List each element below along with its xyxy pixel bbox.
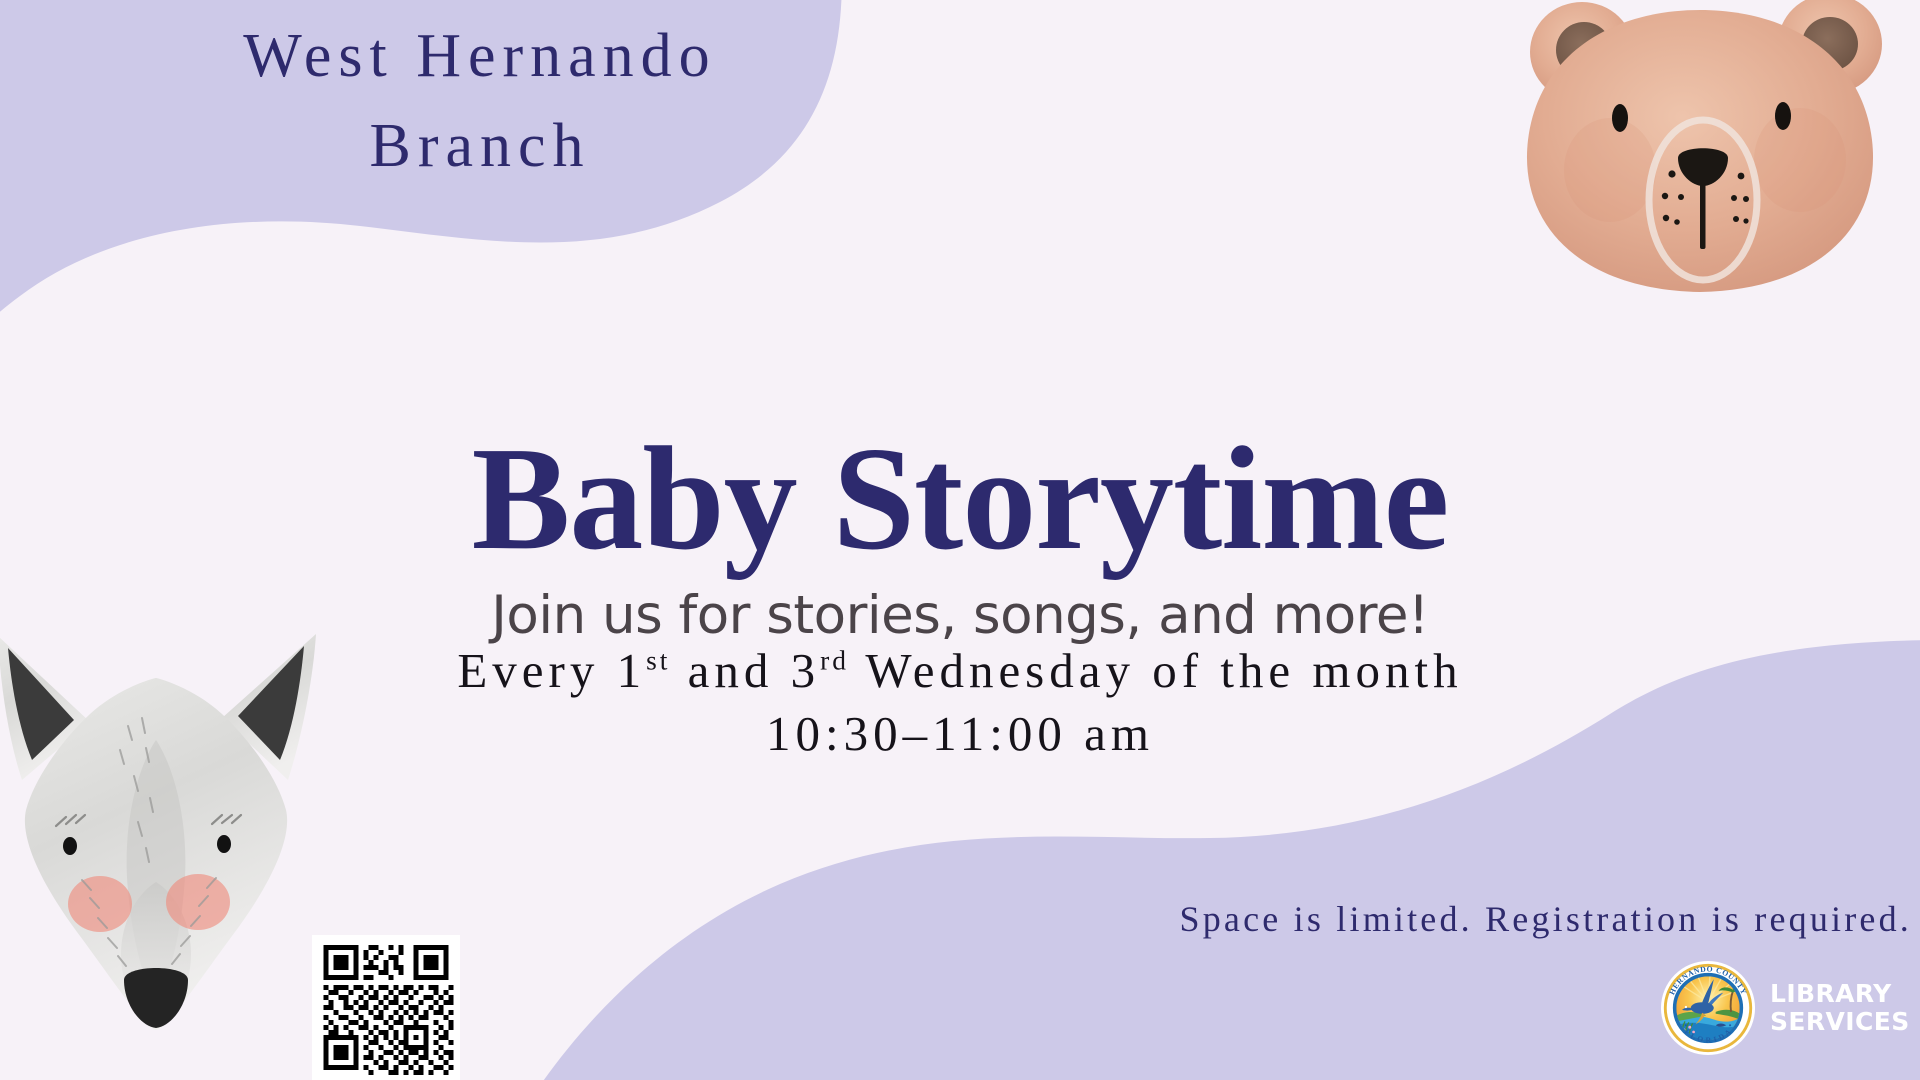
ordinal-suffix-first: st (646, 646, 670, 676)
schedule-prefix: Every 1 (457, 643, 646, 698)
page-title: Baby Storytime (0, 425, 1920, 573)
ordinal-suffix-third: rd (820, 646, 849, 676)
schedule-middle: and 3 (670, 643, 820, 698)
county-seal-icon: HERNANDO COUNTY F L O R I D A (1660, 960, 1756, 1056)
schedule-suffix: Wednesday of the month (849, 643, 1463, 698)
registration-note: Space is limited. Registration is requir… (1180, 898, 1912, 940)
branch-name: West Hernando Branch (60, 12, 900, 192)
wolf-face-icon (0, 630, 326, 1050)
library-services-wordmark: LIBRARY SERVICES (1770, 980, 1910, 1036)
library-logo-lockup: HERNANDO COUNTY F L O R I D A LIBRARY SE… (1660, 960, 1910, 1056)
bear-face-icon (1500, 0, 1900, 330)
qr-code-icon[interactable] (312, 935, 460, 1080)
flyer-canvas: West Hernando Branch (0, 0, 1920, 1080)
